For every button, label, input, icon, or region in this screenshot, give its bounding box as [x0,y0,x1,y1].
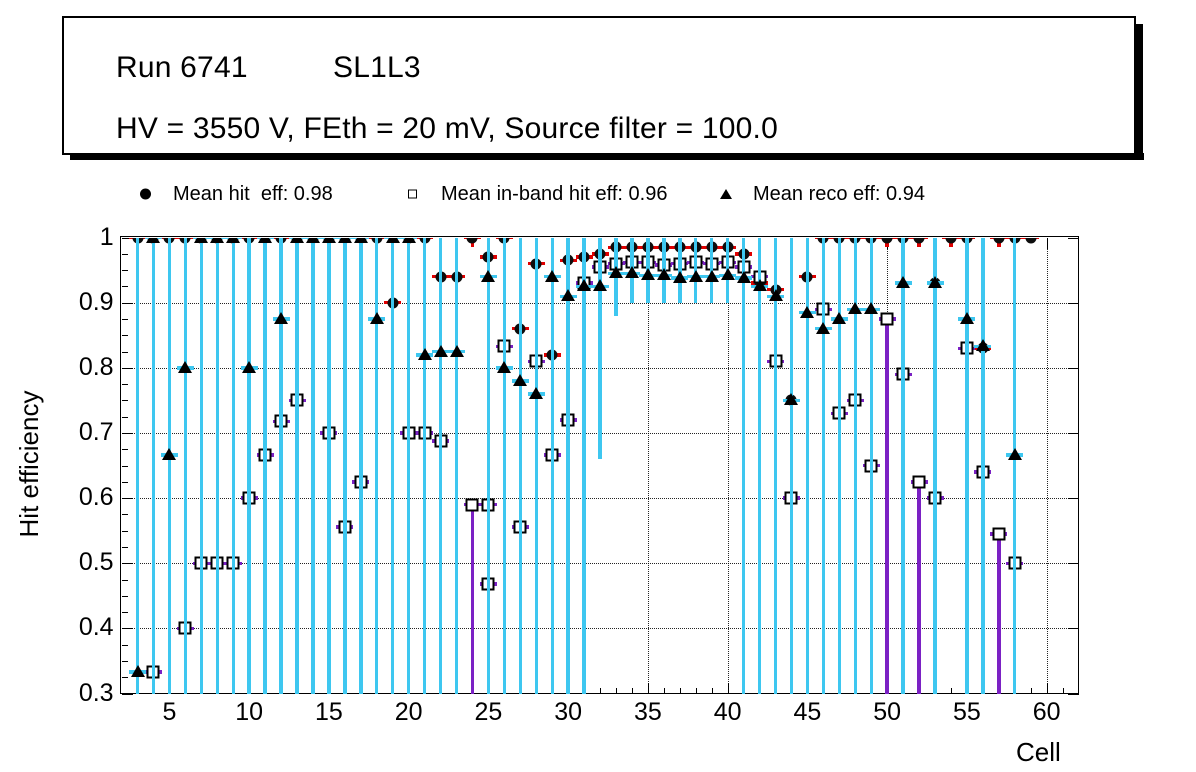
data-point-filled-triangle [529,387,543,399]
error-bar-vertical [790,238,793,694]
data-point-filled-triangle [848,302,862,314]
error-bar-vertical [247,238,250,694]
data-point-filled-circle [914,238,925,244]
data-point-filled-triangle [162,448,176,460]
data-point-filled-triangle [928,276,942,288]
error-bar-vertical [566,238,569,694]
filled-circle-icon [140,189,151,200]
error-bar-vertical [965,238,968,694]
data-point-open-square [466,498,479,511]
error-bar-vertical [997,534,1000,694]
data-point-filled-triangle [274,312,288,324]
error-bar-vertical [295,238,298,694]
error-bar-vertical [535,238,538,694]
error-bar-vertical [758,238,761,694]
data-point-filled-triangle [226,238,240,243]
data-point-filled-triangle [513,374,527,386]
gridline-vertical [648,238,649,694]
data-point-filled-triangle [753,279,767,291]
title-box-shadow-right [1136,24,1143,160]
data-point-filled-triangle [290,238,304,243]
x-tick-label: 45 [767,700,847,725]
data-point-filled-triangle [721,268,735,280]
data-point-filled-triangle [657,268,671,280]
x-tick-label: 30 [528,700,608,725]
error-bar-vertical [311,238,314,694]
x-tick-label: 5 [129,700,209,725]
legend-entry-reco-eff: Mean reco eff: 0.94 [720,176,925,212]
legend-label-inband-eff: Mean in-band hit eff: 0.96 [441,183,667,206]
data-point-filled-triangle [896,276,910,288]
title-box: Run 6741 SL1L3 HV = 3550 V, FEth = 20 mV… [62,16,1136,155]
data-point-filled-triangle [609,266,623,278]
data-point-filled-triangle [832,312,846,324]
error-bar-vertical [822,238,825,694]
data-point-filled-circle [945,238,956,244]
error-bar-vertical [742,238,745,694]
data-point-filled-triangle [178,361,192,373]
data-point-filled-circle [993,238,1004,244]
error-bar-vertical [487,238,490,694]
error-bar-vertical [327,238,330,694]
title-run-line: Run 6741 SL1L3 [116,51,421,85]
data-point-filled-triangle [816,322,830,334]
gridline-vertical [1047,238,1048,694]
data-point-filled-triangle [593,279,607,291]
data-point-filled-triangle [418,348,432,360]
error-bar-vertical [152,238,155,694]
error-bar-vertical [439,238,442,694]
data-point-filled-triangle [673,271,687,283]
error-bar-vertical [1013,238,1016,694]
title-settings-line: HV = 3550 V, FEth = 20 mV, Source filter… [116,112,778,146]
x-tick-label: 60 [1007,700,1087,725]
error-bar-vertical [407,238,410,694]
data-point-filled-triangle [800,306,814,318]
data-point-filled-triangle [960,312,974,324]
data-point-filled-triangle [737,271,751,283]
error-bar-vertical [263,238,266,694]
x-tick-label: 50 [847,700,927,725]
error-bar-vertical [359,238,362,694]
data-point-filled-triangle [306,238,320,243]
data-point-filled-triangle [146,238,160,243]
error-bar-vertical [423,238,426,694]
open-square-icon [408,190,417,199]
data-point-filled-triangle [131,665,145,677]
data-point-filled-triangle [769,289,783,301]
data-point-filled-triangle [258,238,272,243]
plot-data-area [122,238,1079,694]
data-point-filled-triangle [641,268,655,280]
data-point-filled-triangle [386,238,400,243]
gridline-vertical [728,238,729,694]
legend-label-reco-eff: Mean reco eff: 0.94 [753,183,925,206]
filled-triangle-icon [720,189,732,199]
data-point-filled-triangle [1008,448,1022,460]
data-point-filled-triangle [497,361,511,373]
error-bar-vertical [136,238,139,694]
data-point-filled-triangle [784,393,798,405]
error-bar-vertical [279,238,282,694]
error-bar-vertical [232,238,235,694]
error-bar-vertical [901,238,904,694]
x-tick-label: 55 [927,700,1007,725]
error-bar-vertical [917,482,920,694]
error-bar-vertical [838,238,841,694]
x-tick-label: 25 [448,700,528,725]
legend: Mean hit eff: 0.98 Mean in-band hit eff:… [120,176,1077,212]
x-axis-title: Cell [1016,737,1061,768]
error-bar-vertical [455,238,458,694]
legend-label-hit-eff: Mean hit eff: 0.98 [173,183,333,206]
error-bar-vertical [184,238,187,694]
legend-entry-hit-eff: Mean hit eff: 0.98 [140,176,333,212]
x-tick-label: 40 [688,700,768,725]
error-bar-vertical [200,238,203,694]
data-point-filled-triangle [402,238,416,243]
data-point-filled-triangle [434,345,448,357]
data-point-filled-triangle [354,238,368,243]
error-bar-vertical [168,238,171,694]
error-bar-vertical [216,238,219,694]
error-bar-vertical [375,238,378,694]
error-bar-vertical [519,238,522,694]
data-point-filled-triangle [210,238,224,243]
data-point-filled-triangle [864,302,878,314]
data-point-filled-triangle [705,270,719,282]
error-bar-vertical [774,238,777,694]
legend-entry-inband-eff: Mean in-band hit eff: 0.96 [408,176,667,212]
data-point-filled-triangle [689,270,703,282]
data-point-filled-triangle [561,289,575,301]
error-bar-vertical [598,238,601,459]
data-point-filled-triangle [976,339,990,351]
error-bar-vertical [503,238,506,694]
data-point-filled-triangle [450,345,464,357]
y-axis-title: Hit efficiency [12,236,46,692]
x-tick-label: 10 [209,700,289,725]
error-bar-vertical [981,238,984,694]
data-point-filled-triangle [338,238,352,243]
x-tick-label: 20 [369,700,449,725]
data-point-open-square [881,313,894,326]
error-bar-vertical [551,238,554,694]
error-bar-vertical [391,238,394,694]
data-point-filled-triangle [481,270,495,282]
error-bar-vertical [885,319,888,694]
data-point-filled-triangle [242,361,256,373]
error-bar-vertical [933,238,936,694]
error-bar-vertical [582,238,585,694]
error-bar-vertical [343,238,346,694]
data-point-filled-triangle [370,312,384,324]
x-tick-label: 15 [289,700,369,725]
data-point-filled-circle [1025,238,1036,244]
data-point-filled-triangle [545,270,559,282]
error-bar-vertical [471,505,474,694]
data-point-filled-triangle [322,238,336,243]
data-point-filled-circle [882,238,893,244]
data-point-open-square [913,475,926,488]
x-tick-label: 35 [608,700,688,725]
data-point-open-square [992,527,1005,540]
data-point-filled-circle [467,238,478,244]
data-point-filled-triangle [577,279,591,291]
data-point-filled-triangle [625,266,639,278]
data-point-filled-triangle [194,238,208,243]
